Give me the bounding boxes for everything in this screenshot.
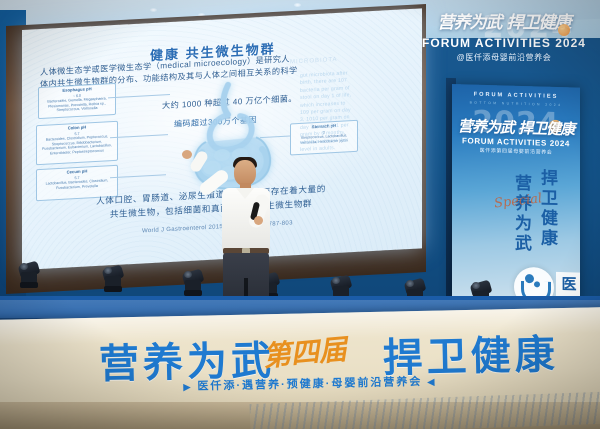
moving-head-stage-light — [102, 266, 124, 292]
box-taxa: Bacteroides, Gemella, Megasphaera, Plesi… — [42, 96, 112, 114]
banner-vertical-left: 营养为武 — [509, 174, 534, 255]
speaker-right-hand — [254, 216, 263, 225]
box-taxa: Lactobacillus, Bacteroides, Clostridium,… — [40, 178, 114, 191]
downlight — [294, 3, 301, 7]
light-lens — [332, 277, 340, 284]
speaker-left-hand — [182, 150, 192, 159]
triangle-left-icon: ▶ — [183, 382, 192, 392]
light-base — [20, 282, 38, 288]
banner-forum-top: FORUM ACTIVITIES — [452, 91, 580, 101]
watermark: 2024 营养为武 捍卫健康 FORUM ACTIVITIES 2024 @医仟… — [416, 8, 592, 63]
right-vertical-banner: FORUM ACTIVITIES BOTTOM NUTRITION 2024 2… — [452, 84, 580, 303]
watermark-forum-line: FORUM ACTIVITIES 2024 — [416, 36, 592, 50]
connector-line — [108, 94, 170, 98]
logo-figure-child — [534, 281, 540, 287]
downlight — [150, 8, 157, 12]
light-lens — [104, 267, 112, 274]
conference-photo: 健康 共生微生物群 人体微生态学或医学微生态学（medical microeco… — [0, 0, 600, 429]
triangle-right-icon: ◀ — [427, 377, 436, 387]
stage-edition-overlay: 第四届 — [261, 328, 348, 375]
moving-head-stage-light — [18, 262, 40, 288]
slide-english-block: gut microbiota after birth, there are 10… — [300, 70, 352, 154]
watermark-sun-dot — [558, 24, 570, 36]
banner-vertical-right: 捍卫健康 — [535, 168, 560, 249]
diagram-box-esophagus: Esophagus pH ~ 6.0 Bacteroides, Gemella,… — [38, 83, 116, 119]
light-lens — [20, 263, 28, 270]
light-lens — [184, 271, 192, 278]
diagram-box-colon: Colon pH 5.7 Bacteroides, Clostridium, P… — [36, 121, 118, 165]
logo-figure-parent — [525, 274, 534, 283]
box-taxa: Bacteroides, Clostridium, Peptococcus, S… — [40, 134, 114, 156]
light-lens — [472, 282, 480, 289]
banner-yi-character: 医 — [556, 272, 580, 299]
light-lens — [406, 280, 414, 287]
stage-subtitle-text: 医仟添·遇营养·预健康·母婴前沿营养会 — [197, 376, 422, 393]
connector-line — [110, 174, 166, 178]
connector-line — [110, 134, 168, 138]
light-base — [104, 286, 122, 292]
watermark-handle: @医仟添母婴前沿营养会 — [416, 52, 592, 63]
